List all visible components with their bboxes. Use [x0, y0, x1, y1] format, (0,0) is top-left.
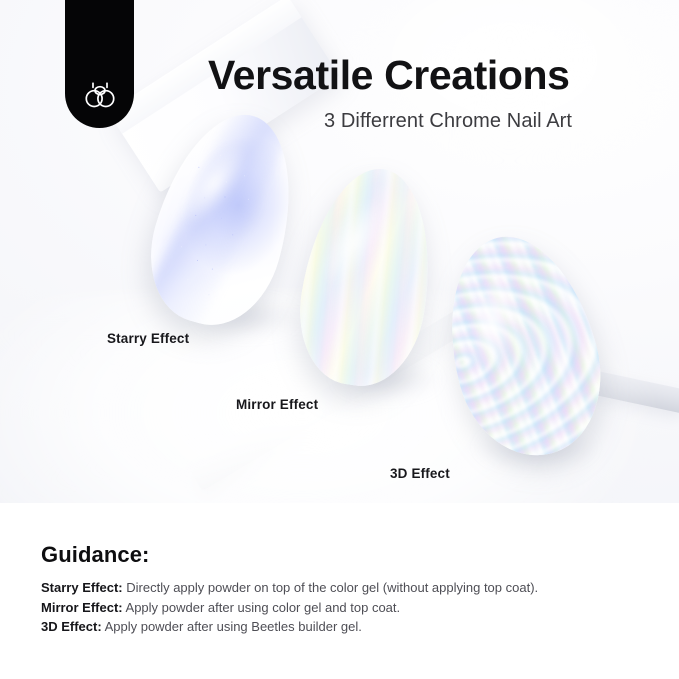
- caption-3d-effect: 3D Effect: [390, 466, 450, 481]
- page-subtitle: 3 Differrent Chrome Nail Art: [324, 110, 572, 133]
- guidance-desc-mirror: Apply powder after using color gel and t…: [123, 600, 401, 615]
- guidance-desc-3d: Apply powder after using Beetles builder…: [102, 619, 362, 634]
- beetle-logo-icon: [81, 80, 119, 112]
- guidance-list: Starry Effect: Directly apply powder on …: [41, 578, 651, 637]
- guidance-item-3d: 3D Effect: Apply powder after using Beet…: [41, 617, 651, 637]
- product-infographic: Versatile Creations 3 Differrent Chrome …: [0, 0, 679, 679]
- caption-starry-effect: Starry Effect: [107, 331, 189, 346]
- page-title: Versatile Creations: [208, 52, 570, 99]
- guidance-term-3d: 3D Effect:: [41, 619, 102, 634]
- hero-section: Versatile Creations 3 Differrent Chrome …: [0, 0, 679, 503]
- guidance-term-starry: Starry Effect:: [41, 580, 123, 595]
- caption-mirror-effect: Mirror Effect: [236, 397, 318, 412]
- guidance-term-mirror: Mirror Effect:: [41, 600, 123, 615]
- guidance-heading: Guidance:: [41, 542, 149, 568]
- guidance-item-mirror: Mirror Effect: Apply powder after using …: [41, 598, 651, 618]
- guidance-section: Guidance: Starry Effect: Directly apply …: [0, 503, 679, 679]
- brand-badge: [65, 0, 134, 128]
- guidance-desc-starry: Directly apply powder on top of the colo…: [123, 580, 539, 595]
- guidance-item-starry: Starry Effect: Directly apply powder on …: [41, 578, 651, 598]
